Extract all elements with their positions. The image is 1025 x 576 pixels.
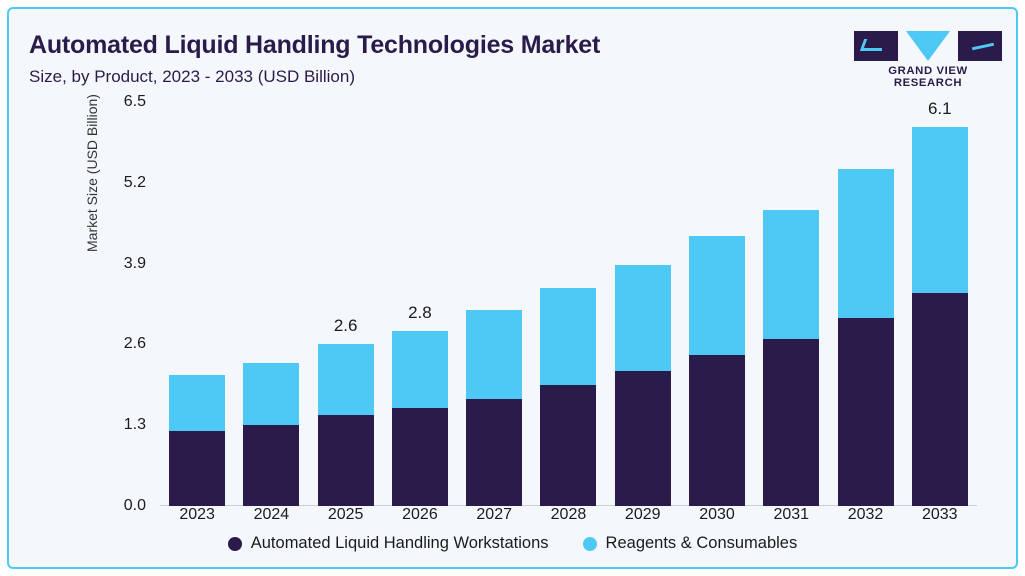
bar-segment-reagents-consumables[interactable]	[838, 169, 894, 318]
page-title: Automated Liquid Handling Technologies M…	[29, 31, 600, 60]
bar-column[interactable]	[754, 102, 828, 506]
bar-series-group: 2.62.86.1	[160, 102, 977, 506]
bar-segment-reagents-consumables[interactable]	[689, 236, 745, 355]
stacked-bar[interactable]	[689, 236, 745, 506]
x-axis-tick: 2027	[457, 506, 531, 532]
logo-marks	[854, 31, 1002, 63]
bar-column[interactable]: 2.8	[383, 102, 457, 506]
x-axis-tick: 2028	[531, 506, 605, 532]
logo-left-block-icon	[854, 31, 898, 61]
bar-segment-workstations[interactable]	[466, 399, 522, 506]
legend-label: Automated Liquid Handling Workstations	[251, 534, 549, 553]
bar-segment-workstations[interactable]	[169, 431, 225, 506]
stacked-bar[interactable]	[392, 331, 448, 506]
chart-card: Automated Liquid Handling Technologies M…	[7, 7, 1018, 569]
legend-label: Reagents & Consumables	[606, 534, 798, 553]
bar-segment-reagents-consumables[interactable]	[392, 331, 448, 408]
bar-segment-workstations[interactable]	[689, 355, 745, 506]
x-axis-tick: 2030	[680, 506, 754, 532]
bar-segment-workstations[interactable]	[540, 385, 596, 506]
y-axis-tick: 0.0	[124, 497, 146, 515]
bar-segment-workstations[interactable]	[615, 371, 671, 506]
bar-segment-workstations[interactable]	[838, 318, 894, 506]
x-axis-tick: 2032	[828, 506, 902, 532]
legend-item[interactable]: Reagents & Consumables	[583, 534, 798, 553]
x-axis-tick: 2026	[383, 506, 457, 532]
bar-value-label: 2.8	[375, 303, 465, 323]
y-axis-tick: 6.5	[124, 93, 146, 111]
logo-text: GRAND VIEW RESEARCH	[854, 65, 1002, 89]
bar-column[interactable]: 2.6	[309, 102, 383, 506]
chart-legend: Automated Liquid Handling WorkstationsRe…	[9, 534, 1016, 553]
bar-segment-reagents-consumables[interactable]	[318, 344, 374, 415]
stacked-bar[interactable]	[466, 310, 522, 506]
stacked-bar[interactable]	[243, 363, 299, 506]
stacked-bar[interactable]	[615, 265, 671, 506]
legend-color-swatch-icon	[583, 537, 597, 551]
bar-segment-reagents-consumables[interactable]	[243, 363, 299, 425]
bar-segment-workstations[interactable]	[318, 415, 374, 506]
bar-segment-reagents-consumables[interactable]	[540, 288, 596, 384]
bar-segment-reagents-consumables[interactable]	[615, 265, 671, 370]
bar-column[interactable]	[680, 102, 754, 506]
y-axis-label: Market Size (USD Billion)	[84, 94, 100, 252]
y-axis-tick: 3.9	[124, 255, 146, 273]
bar-segment-reagents-consumables[interactable]	[912, 127, 968, 294]
legend-color-swatch-icon	[228, 537, 242, 551]
bar-segment-workstations[interactable]	[763, 339, 819, 506]
bar-column[interactable]	[160, 102, 234, 506]
logo-triangle-icon	[906, 31, 950, 61]
stacked-bar[interactable]	[169, 375, 225, 506]
bar-segment-workstations[interactable]	[392, 408, 448, 506]
bar-value-label: 6.1	[895, 99, 985, 119]
grand-view-research-logo: GRAND VIEW RESEARCH	[854, 31, 1002, 87]
stacked-bar[interactable]	[540, 288, 596, 506]
stacked-bar[interactable]	[763, 210, 819, 506]
y-axis-tick: 5.2	[124, 174, 146, 192]
stacked-bar[interactable]	[318, 344, 374, 506]
y-axis-tick: 2.6	[124, 335, 146, 353]
bar-segment-reagents-consumables[interactable]	[466, 310, 522, 399]
bar-segment-workstations[interactable]	[912, 293, 968, 506]
y-axis-tick: 1.3	[124, 416, 146, 434]
stacked-bar[interactable]	[838, 169, 894, 506]
bar-column[interactable]	[234, 102, 308, 506]
x-axis-tick: 2031	[754, 506, 828, 532]
plot-area: Market Size (USD Billion) 0.01.32.63.95.…	[160, 102, 977, 506]
stacked-bar[interactable]	[912, 127, 968, 506]
page-subtitle: Size, by Product, 2023 - 2033 (USD Billi…	[29, 67, 355, 87]
bar-column[interactable]	[531, 102, 605, 506]
x-axis-tick: 2025	[309, 506, 383, 532]
bar-segment-reagents-consumables[interactable]	[763, 210, 819, 339]
x-axis-tick: 2024	[234, 506, 308, 532]
bar-column[interactable]	[457, 102, 531, 506]
bar-column[interactable]	[606, 102, 680, 506]
bar-segment-reagents-consumables[interactable]	[169, 375, 225, 431]
x-axis-tick: 2033	[903, 506, 977, 532]
x-axis-ticks: 2023202420252026202720282029203020312032…	[160, 506, 977, 532]
logo-right-block-icon	[958, 31, 1002, 61]
x-axis-tick: 2023	[160, 506, 234, 532]
bar-column[interactable]: 6.1	[903, 102, 977, 506]
legend-item[interactable]: Automated Liquid Handling Workstations	[228, 534, 549, 553]
x-axis-tick: 2029	[606, 506, 680, 532]
bar-segment-workstations[interactable]	[243, 425, 299, 506]
bar-column[interactable]	[828, 102, 902, 506]
